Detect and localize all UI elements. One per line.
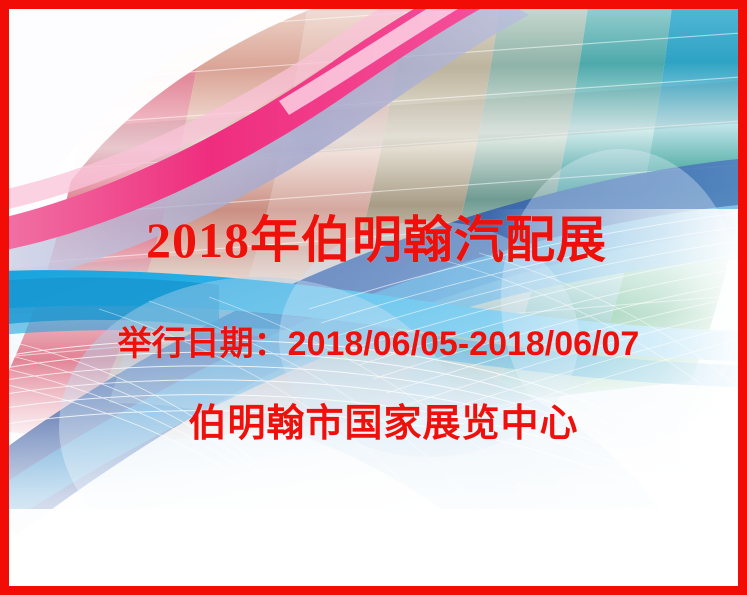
- background-vector-art: [9, 9, 738, 586]
- exhibition-poster: 2018年伯明翰汽配展 举行日期：2018/06/05-2018/06/07 伯…: [0, 0, 747, 595]
- art-bottom-white: [9, 509, 738, 586]
- poster-background-art: [9, 9, 738, 586]
